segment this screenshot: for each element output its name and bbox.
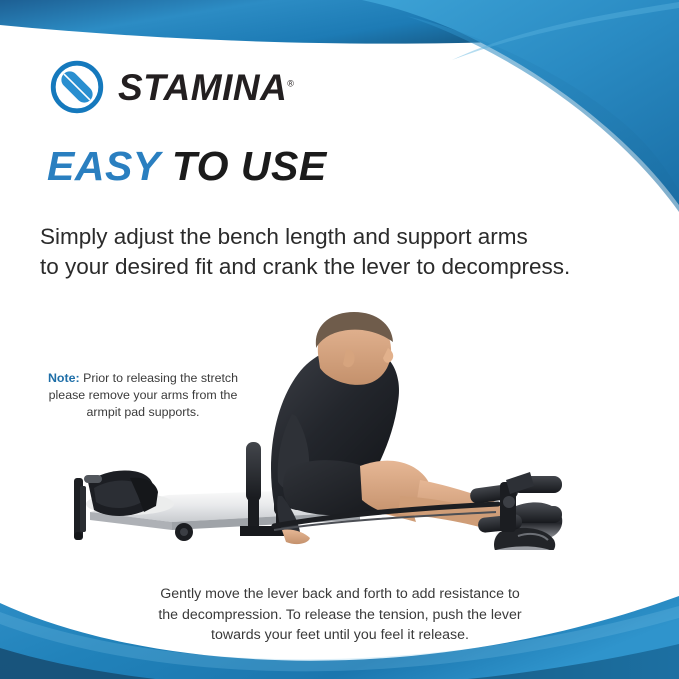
subtitle-line-1: Simply adjust the bench length and suppo… <box>40 222 650 252</box>
page-title: EASY TO USE <box>47 146 327 187</box>
stamina-emblem-icon <box>50 60 104 114</box>
product-photo <box>60 290 570 550</box>
brand-logo: STAMINA® <box>50 60 294 114</box>
caption-line-2: the decompression. To release the tensio… <box>120 605 560 626</box>
page-subtitle: Simply adjust the bench length and suppo… <box>40 222 650 282</box>
brand-wordmark-text: STAMINA <box>118 67 287 108</box>
trademark-symbol: ® <box>287 78 294 88</box>
product-feature-page: STAMINA® EASY TO USE Simply adjust the b… <box>0 0 679 679</box>
brand-wordmark: STAMINA® <box>118 69 294 106</box>
caption-line-3: towards your feet until you feel it rele… <box>120 625 560 646</box>
subtitle-line-2: to your desired fit and crank the lever … <box>40 252 650 282</box>
caption-line-1: Gently move the lever back and forth to … <box>120 584 560 605</box>
headline-highlight: EASY <box>47 143 160 189</box>
instruction-caption: Gently move the lever back and forth to … <box>120 584 560 646</box>
headline-rest: TO USE <box>172 143 327 189</box>
